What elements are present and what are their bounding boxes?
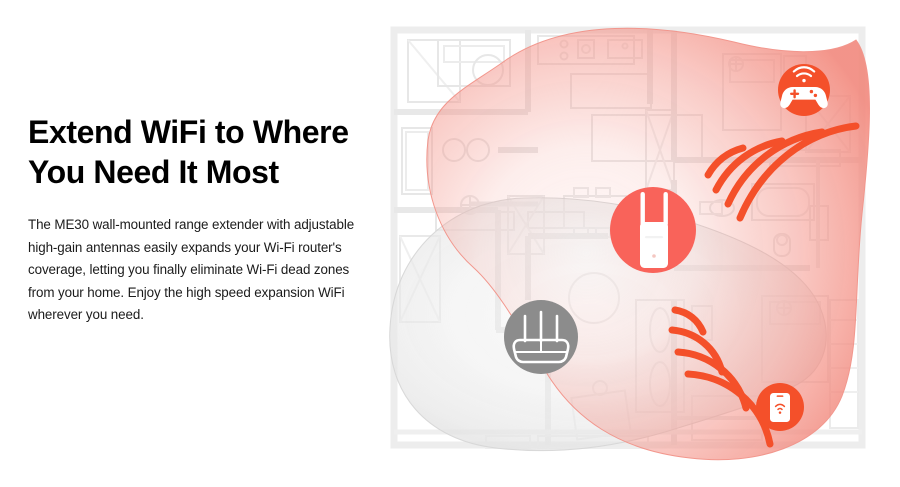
router-node[interactable]	[504, 300, 578, 374]
promo-banner: Extend WiFi to Where You Need It Most Th…	[0, 0, 900, 487]
smartphone-wifi-icon	[770, 393, 790, 422]
copy-block: Extend WiFi to Where You Need It Most Th…	[28, 112, 368, 327]
extender-node[interactable]	[610, 187, 696, 273]
coverage-illustration	[378, 0, 900, 487]
gamepad-node[interactable]	[778, 64, 830, 116]
page-title: Extend WiFi to Where You Need It Most	[28, 112, 368, 192]
phone-node[interactable]	[756, 383, 804, 431]
product-description: The ME30 wall-mounted range extender wit…	[28, 214, 368, 327]
